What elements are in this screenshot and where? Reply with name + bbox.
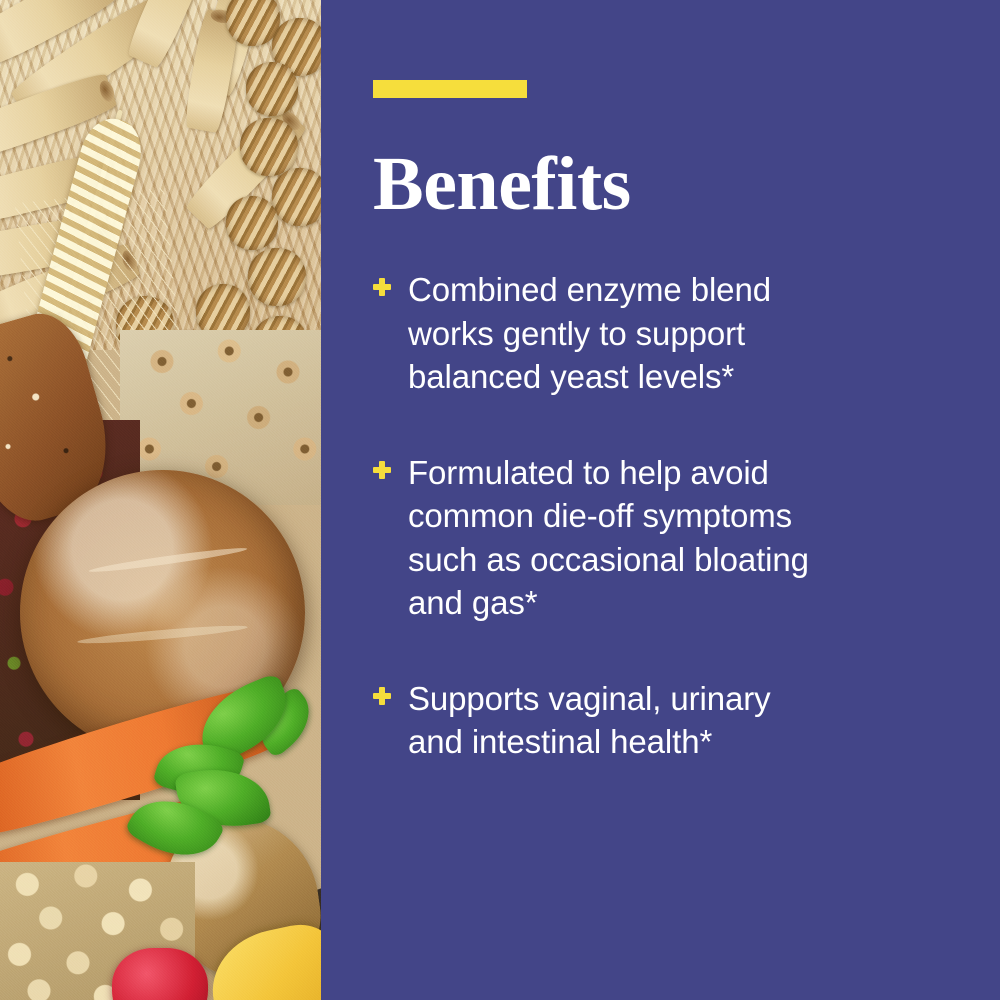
fusilli-spiral bbox=[226, 196, 278, 250]
benefit-text: Combined enzyme blend works gently to su… bbox=[408, 268, 955, 399]
seeded-bread-slice bbox=[0, 304, 125, 532]
plus-icon bbox=[373, 461, 391, 479]
yellow-pepper bbox=[202, 918, 321, 1000]
accent-rule bbox=[373, 80, 527, 98]
fusilli-spiral bbox=[196, 284, 250, 340]
benefits-panel: Benefits Combined enzyme blend works gen… bbox=[0, 0, 1000, 1000]
page-title: Benefits bbox=[373, 146, 1000, 222]
fusilli-spiral bbox=[240, 118, 298, 176]
whole-grain-food-image bbox=[0, 0, 321, 1000]
fusilli-spiral bbox=[248, 248, 306, 306]
fusilli-spiral bbox=[252, 316, 308, 372]
slate-board bbox=[233, 883, 321, 964]
list-item: Formulated to help avoid common die-off … bbox=[373, 451, 955, 625]
fusilli-spiral bbox=[272, 168, 321, 226]
benefit-text: Formulated to help avoid common die-off … bbox=[408, 451, 955, 625]
benefits-content: Benefits Combined enzyme blend works gen… bbox=[321, 0, 1000, 1000]
fusilli-spiral bbox=[246, 62, 298, 116]
plus-icon bbox=[373, 278, 391, 296]
fusilli-spiral bbox=[162, 330, 218, 386]
benefit-text: Supports vaginal, urinary and intestinal… bbox=[408, 677, 955, 764]
list-item: Supports vaginal, urinary and intestinal… bbox=[373, 677, 955, 764]
strawberry bbox=[112, 948, 208, 1000]
list-item: Combined enzyme blend works gently to su… bbox=[373, 268, 955, 399]
plus-icon bbox=[373, 687, 391, 705]
benefit-list: Combined enzyme blend works gently to su… bbox=[373, 268, 955, 764]
